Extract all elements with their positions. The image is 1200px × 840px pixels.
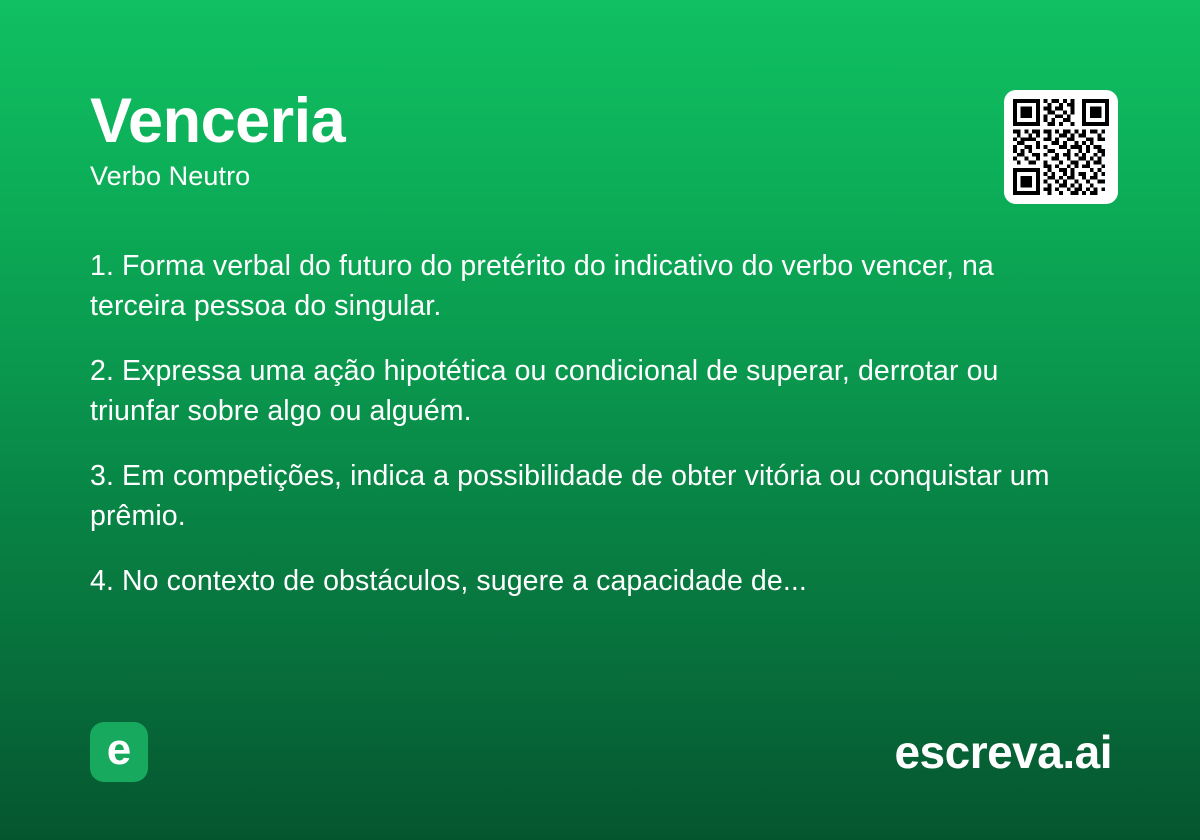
card-footer: e escreva.ai [90,722,1112,782]
definition-item: 4. No contexto de obstáculos, sugere a c… [90,561,1050,601]
definition-item: 3. Em competições, indica a possibilidad… [90,456,1050,536]
word-class-subtitle: Verbo Neutro [90,160,1110,192]
qr-code-icon [1013,99,1109,195]
brand-wordmark: escreva.ai [894,728,1112,776]
definition-list: 1. Forma verbal do futuro do pretérito d… [90,246,1050,601]
brand-logo-icon: e [90,722,148,782]
dictionary-card: Venceria Verbo Neutro [0,0,1200,840]
definition-item: 2. Expressa uma ação hipotética ou condi… [90,351,1050,431]
qr-code[interactable] [1004,90,1118,204]
brand-logo-letter: e [107,728,131,772]
page-title: Venceria [90,88,1110,154]
card-header: Venceria Verbo Neutro [90,88,1110,192]
definition-item: 1. Forma verbal do futuro do pretérito d… [90,246,1050,326]
